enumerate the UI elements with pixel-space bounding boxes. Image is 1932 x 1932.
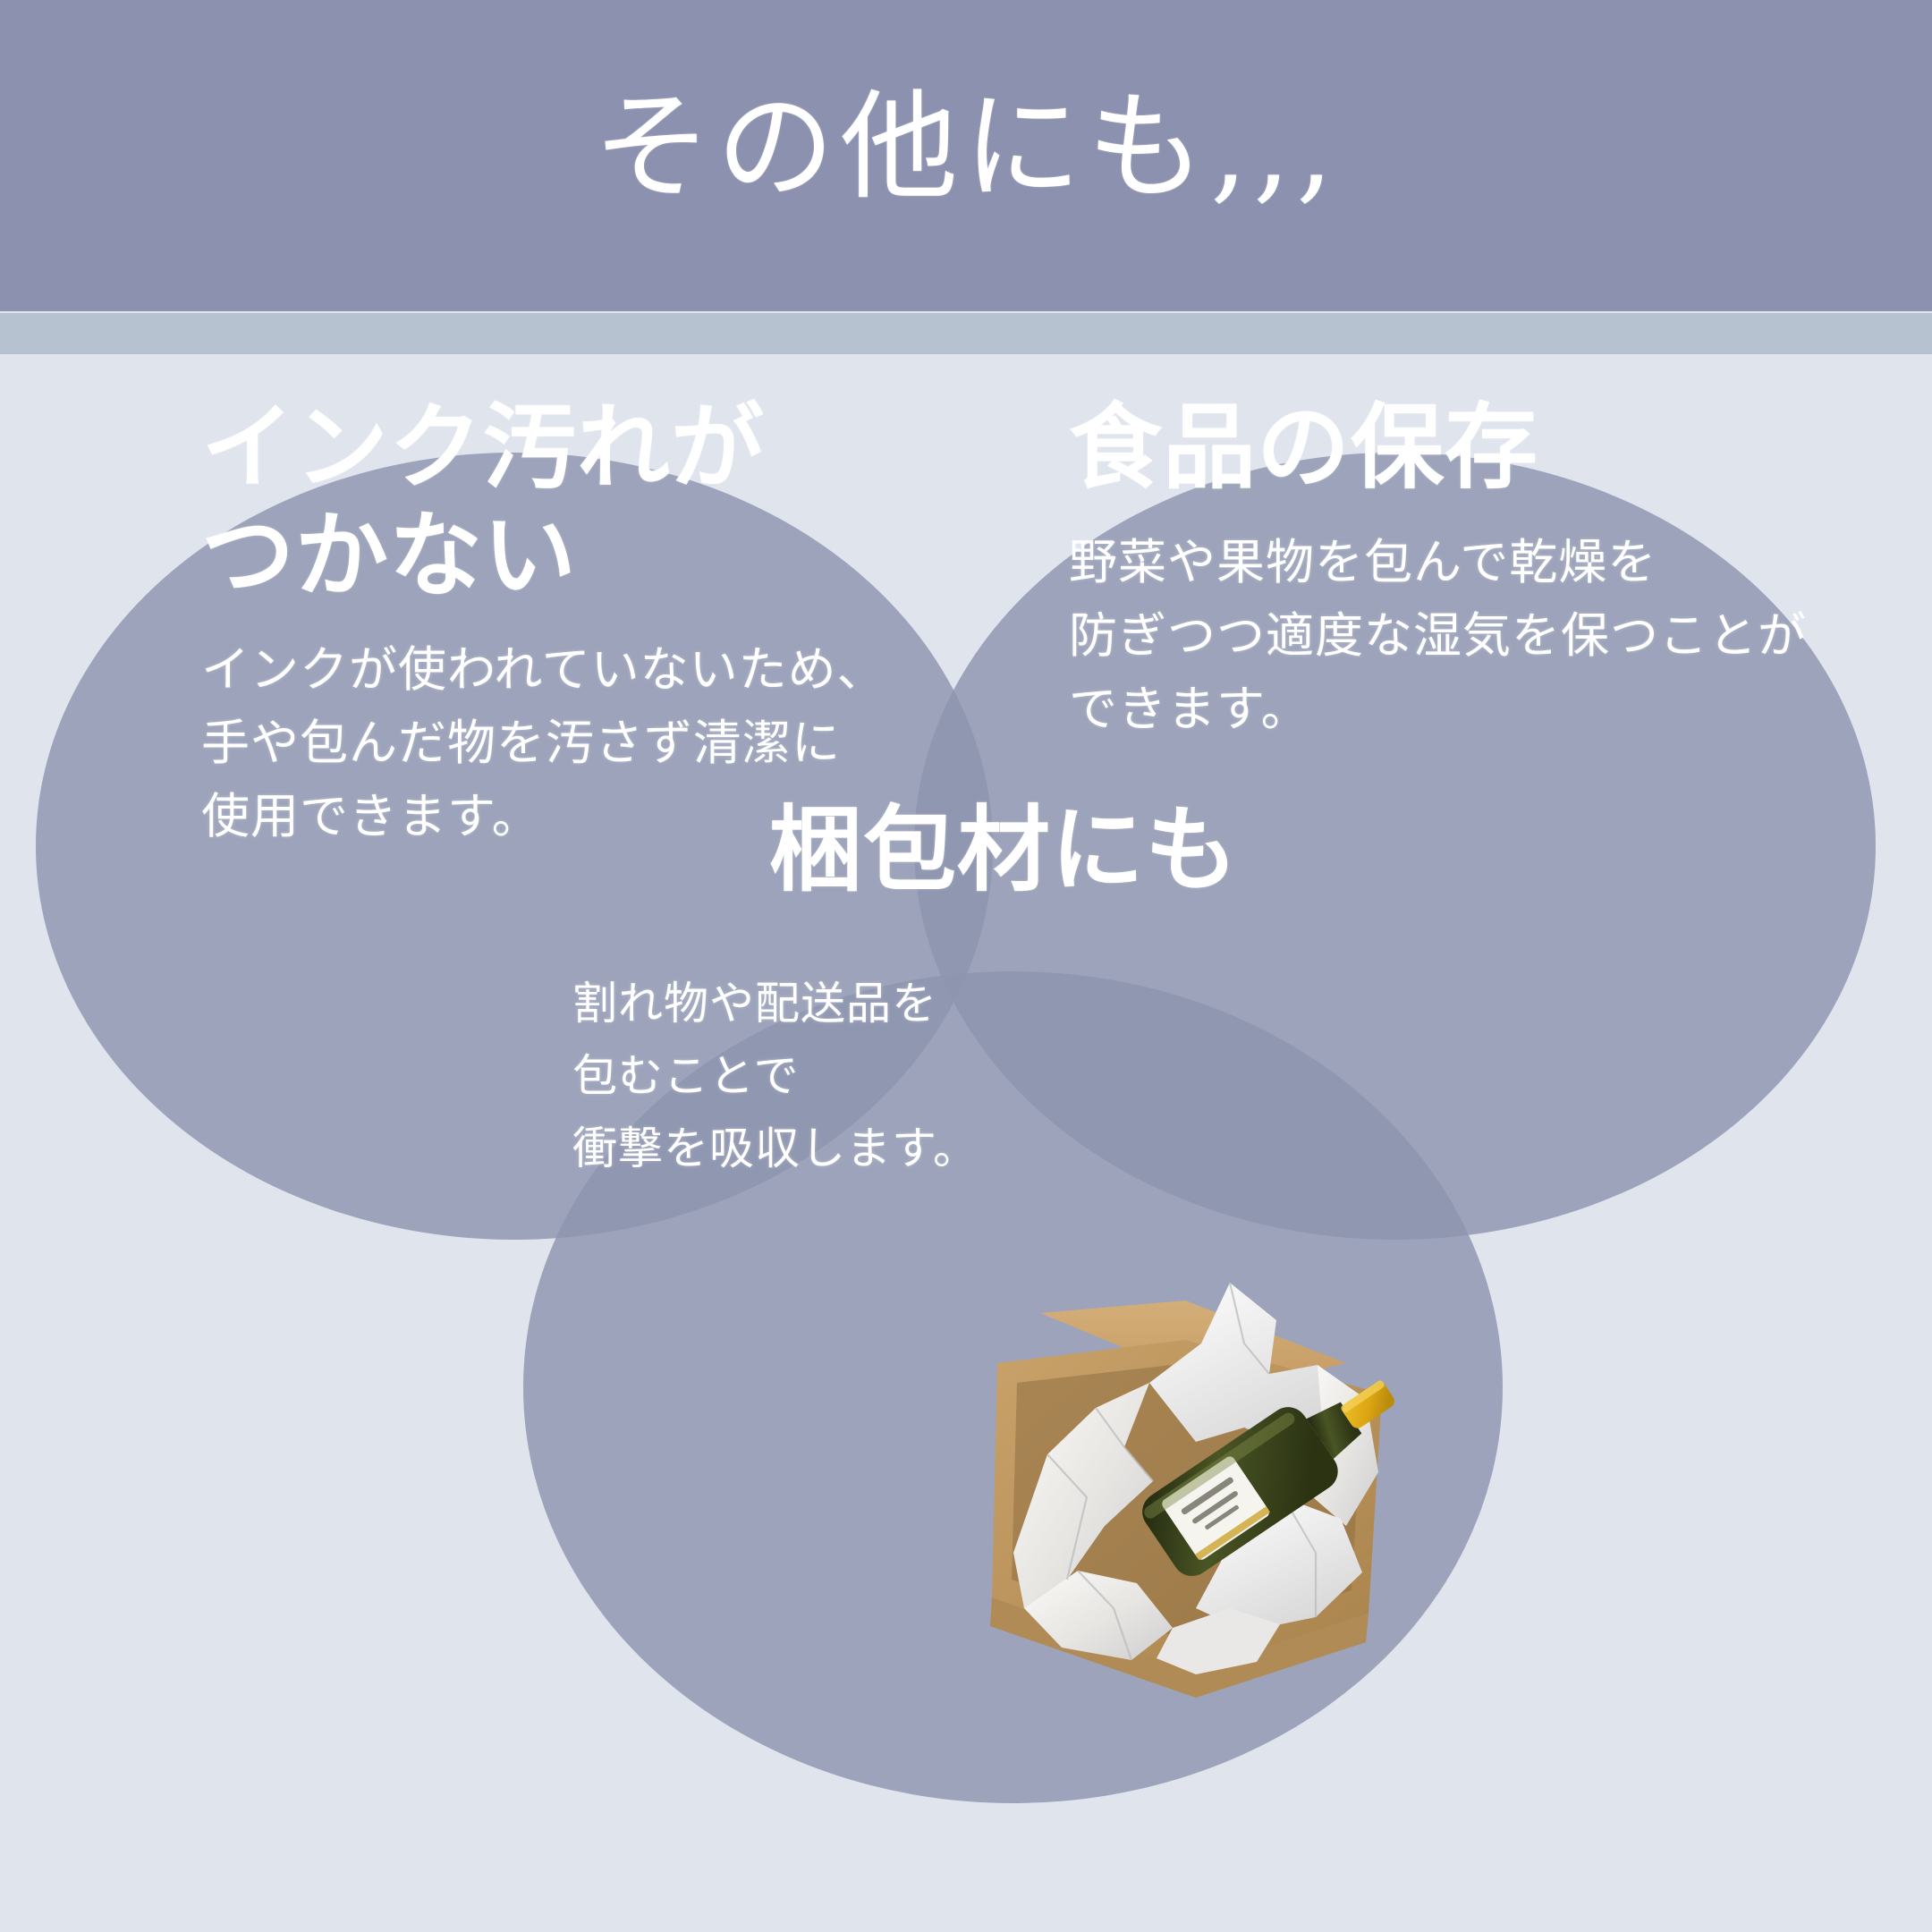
panel-food-body: 野菜や果物を包んで乾燥を 防ぎつつ適度な湿気を保つことが できます。 xyxy=(1069,526,1874,746)
panel-packing: 梱包材にも 割れ物や配送品を 包むことで 衝撃を吸収します。 xyxy=(572,797,1449,1185)
panel-food: 食品の保存 野菜や果物を包んで乾燥を 防ぎつつ適度な湿気を保つことが できます。 xyxy=(1069,394,1874,746)
panel-packing-body: 割れ物や配送品を 包むことで 衝撃を吸収します。 xyxy=(572,968,1449,1185)
packaging-photo-illustration xyxy=(962,1258,1431,1705)
panel-packing-title: 梱包材にも xyxy=(769,797,1449,905)
page-title: その他にも,,, xyxy=(593,86,1339,210)
venn-diagram: インク汚れが つかない インクが使われていないため、 手や包んだ物を汚さず清潔に… xyxy=(0,354,1932,1932)
header-divider xyxy=(0,313,1932,354)
packaging-photo xyxy=(962,1258,1431,1705)
panel-ink: インク汚れが つかない インクが使われていないため、 手や包んだ物を汚さず清潔に… xyxy=(201,394,917,853)
slide-canvas: その他にも,,, インク汚れが つかない インクが使われていないため、 手や包ん… xyxy=(0,0,1932,1932)
header-bar: その他にも,,, xyxy=(0,0,1932,311)
panel-food-title: 食品の保存 xyxy=(1069,394,1874,503)
panel-ink-title: インク汚れが つかない xyxy=(201,394,917,610)
